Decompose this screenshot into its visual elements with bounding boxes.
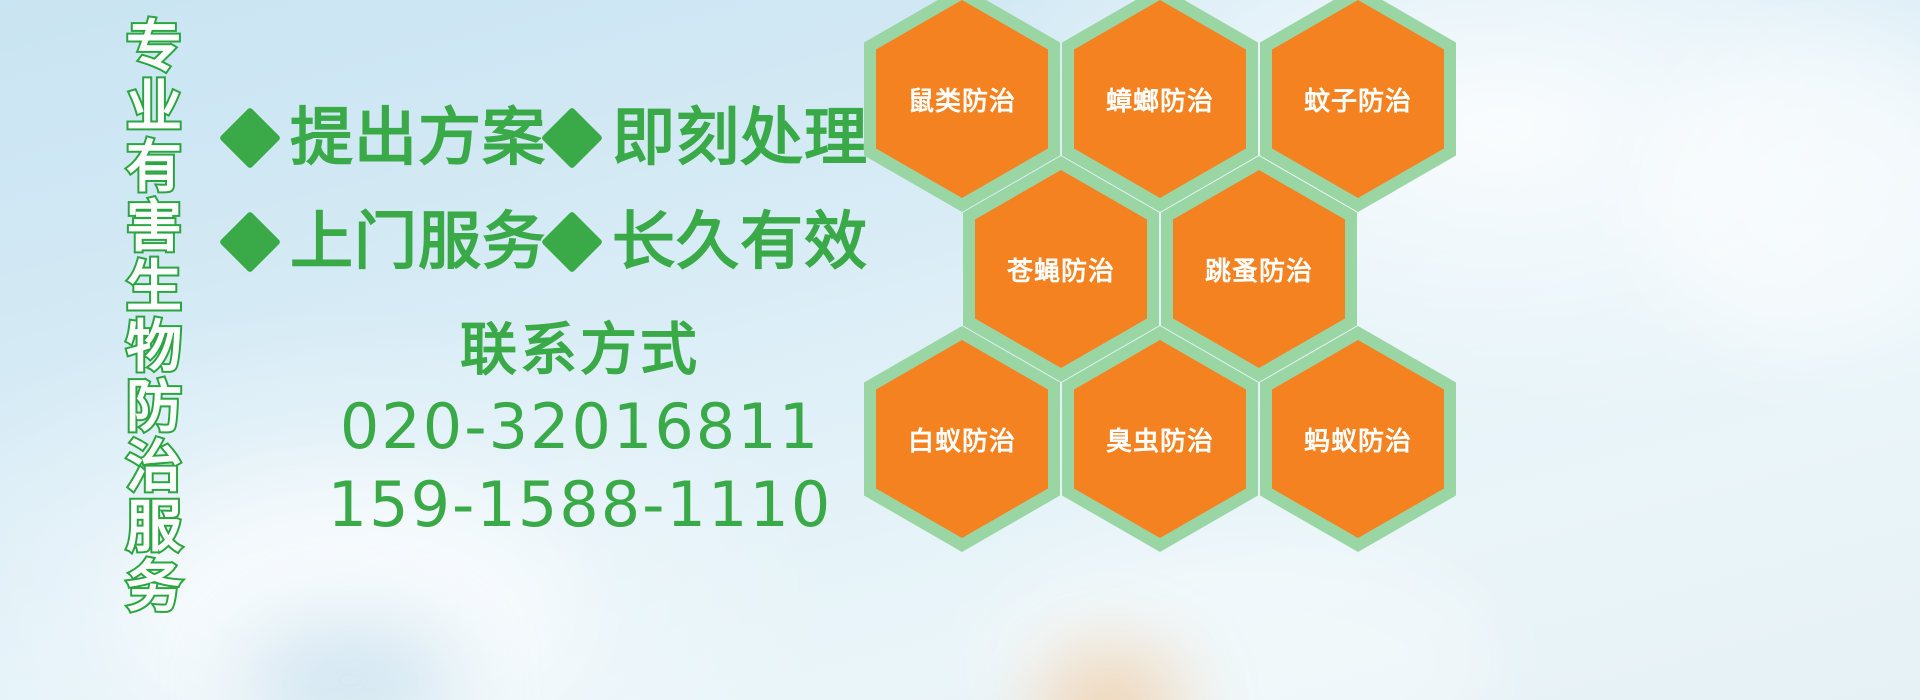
vertical-slogan-char: 务 — [126, 558, 182, 618]
service-label: 白蚁防治 — [908, 421, 1016, 458]
background-blob-bottom-left — [240, 620, 460, 700]
feature-label: 提出方案 — [290, 105, 546, 171]
feature-label: 上门服务 — [290, 209, 546, 275]
diamond-icon — [541, 107, 603, 169]
vertical-slogan: 专 业 有 害 生 物 防 治 服 务 — [104, 18, 204, 618]
vertical-slogan-char: 专 — [126, 18, 182, 78]
feature-item-propose-plan: 提出方案 — [228, 105, 546, 171]
hex-inner: 苍蝇防治 — [975, 170, 1147, 368]
feature-row: 提出方案 即刻处理 — [228, 86, 868, 190]
service-label: 跳蚤防治 — [1205, 251, 1313, 288]
contact-heading: 联系方式 — [300, 312, 860, 388]
vertical-slogan-char: 物 — [126, 318, 182, 378]
contact-phone-mobile[interactable]: 159-1588-1110 — [300, 466, 860, 544]
vertical-slogan-char: 生 — [126, 258, 182, 318]
hex-inner: 蚂蚁防治 — [1272, 340, 1444, 538]
diamond-icon — [219, 107, 281, 169]
vertical-slogan-char: 治 — [126, 438, 182, 498]
pest-control-banner: 专 业 有 害 生 物 防 治 服 务 提出方案 即刻处理 上门服务 — [0, 0, 1920, 700]
vertical-slogan-char: 服 — [126, 498, 182, 558]
hex-inner: 鼠类防治 — [876, 0, 1048, 198]
contact-phone-landline[interactable]: 020-32016811 — [300, 388, 860, 466]
hex-inner: 蟑螂防治 — [1074, 0, 1246, 198]
vertical-slogan-char: 防 — [126, 378, 182, 438]
service-label: 臭虫防治 — [1106, 421, 1214, 458]
feature-row: 上门服务 长久有效 — [228, 190, 868, 294]
hex-inner: 白蚁防治 — [876, 340, 1048, 538]
feature-item-door-to-door-service: 上门服务 — [228, 209, 546, 275]
hex-inner: 跳蚤防治 — [1173, 170, 1345, 368]
feature-list: 提出方案 即刻处理 上门服务 长久有效 — [228, 86, 868, 294]
diamond-icon — [219, 211, 281, 273]
vertical-slogan-char: 害 — [126, 198, 182, 258]
service-label: 苍蝇防治 — [1007, 251, 1115, 288]
contact-block: 联系方式 020-32016811 159-1588-1110 — [300, 312, 860, 544]
feature-item-long-lasting-effect: 长久有效 — [550, 209, 868, 275]
hex-inner: 臭虫防治 — [1074, 340, 1246, 538]
diamond-icon — [541, 211, 603, 273]
service-label: 蟑螂防治 — [1106, 81, 1214, 118]
vertical-slogan-char: 业 — [126, 78, 182, 138]
hex-inner: 蚊子防治 — [1272, 0, 1444, 198]
feature-item-immediate-handling: 即刻处理 — [550, 105, 868, 171]
vertical-slogan-char: 有 — [126, 138, 182, 198]
service-label: 鼠类防治 — [908, 81, 1016, 118]
feature-label: 即刻处理 — [612, 105, 868, 171]
service-hexagon-grid: 鼠类防治 蟑螂防治 蚊子防治 苍蝇防治 跳蚤防治 白蚁防治 — [864, 0, 1484, 700]
feature-label: 长久有效 — [612, 209, 868, 275]
background-highlight-right — [1640, 40, 1920, 360]
service-label: 蚊子防治 — [1304, 81, 1412, 118]
service-label: 蚂蚁防治 — [1304, 421, 1412, 458]
